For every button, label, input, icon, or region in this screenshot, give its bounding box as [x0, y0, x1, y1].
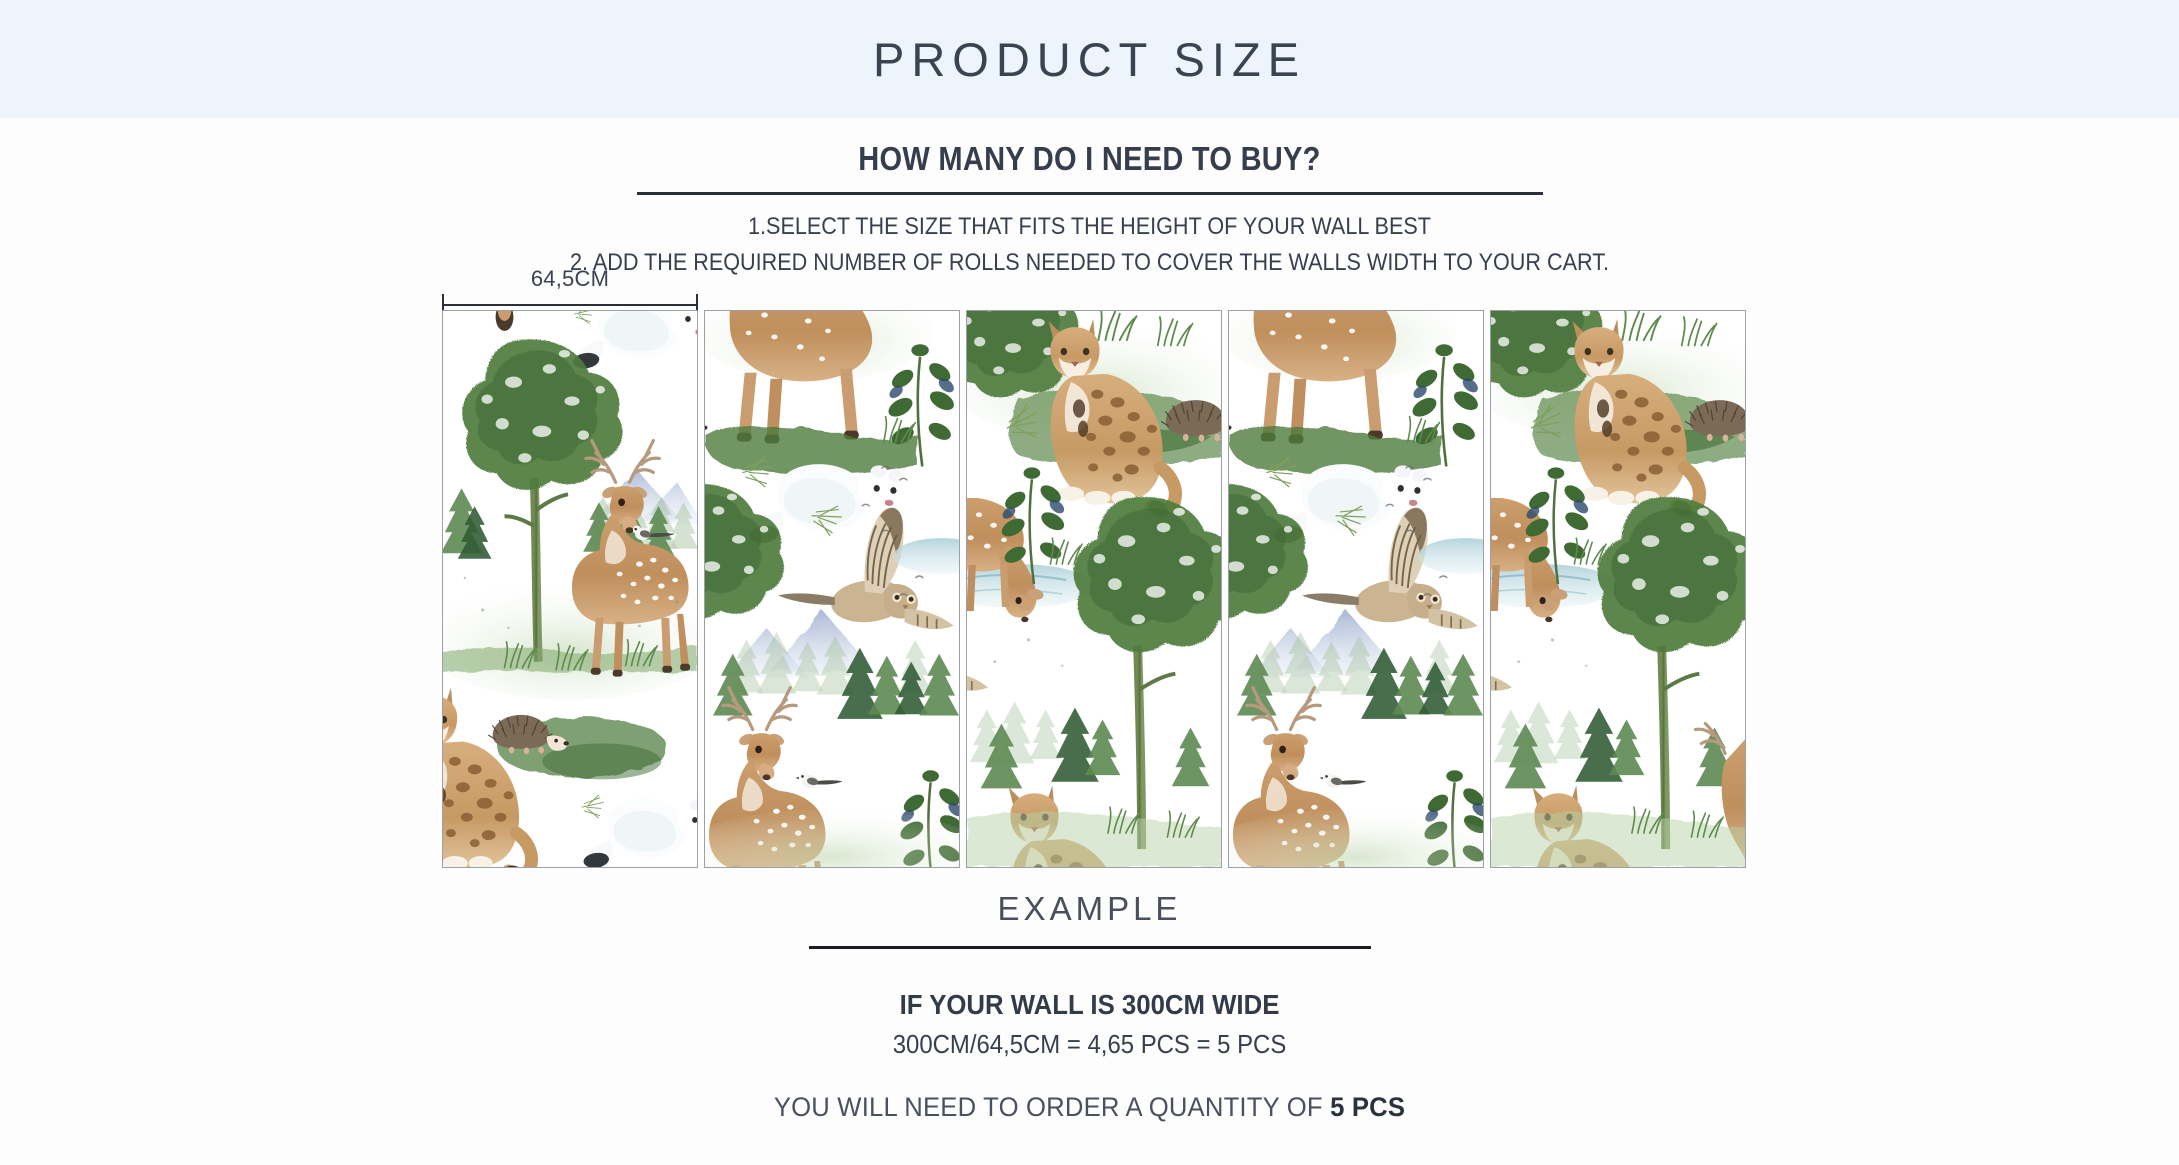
dimension-label: 64,5CM	[442, 266, 698, 292]
wallpaper-panel-5[interactable]	[1490, 310, 1746, 868]
example-wall-width: IF YOUR WALL IS 300CM WIDE	[87, 989, 2092, 1021]
page-title: PRODUCT SIZE	[873, 32, 1306, 87]
instruction-step-2: 2. ADD THE REQUIRED NUMBER OF ROLLS NEED…	[109, 249, 2070, 277]
wallpaper-panel-4[interactable]	[1228, 310, 1484, 868]
example-conclusion-prefix: YOU WILL NEED TO ORDER A QUANTITY OF	[774, 1092, 1330, 1122]
instruction-step-1: 1.SELECT THE SIZE THAT FITS THE HEIGHT O…	[109, 213, 2070, 241]
wallpaper-panel-row	[442, 310, 1734, 868]
instructions-heading: HOW MANY DO I NEED TO BUY?	[131, 140, 2049, 178]
wallpaper-panel-1[interactable]	[442, 310, 698, 868]
example-divider	[809, 946, 1371, 949]
instructions-divider	[637, 192, 1543, 195]
page-header: PRODUCT SIZE	[0, 0, 2179, 118]
example-calculation: 300CM/64,5CM = 4,65 PCS = 5 PCS	[87, 1029, 2092, 1060]
wallpaper-panel-3[interactable]	[966, 310, 1222, 868]
wallpaper-panel-2[interactable]	[704, 310, 960, 868]
width-dimension: 64,5CM	[442, 272, 698, 314]
instructions-section: HOW MANY DO I NEED TO BUY? 1.SELECT THE …	[0, 118, 2179, 277]
example-conclusion: YOU WILL NEED TO ORDER A QUANTITY OF 5 P…	[54, 1092, 2124, 1123]
example-conclusion-value: 5 PCS	[1330, 1092, 1405, 1122]
example-section: EXAMPLE IF YOUR WALL IS 300CM WIDE 300CM…	[0, 890, 2179, 1123]
example-heading: EXAMPLE	[0, 890, 2179, 928]
dimension-line	[442, 304, 698, 306]
